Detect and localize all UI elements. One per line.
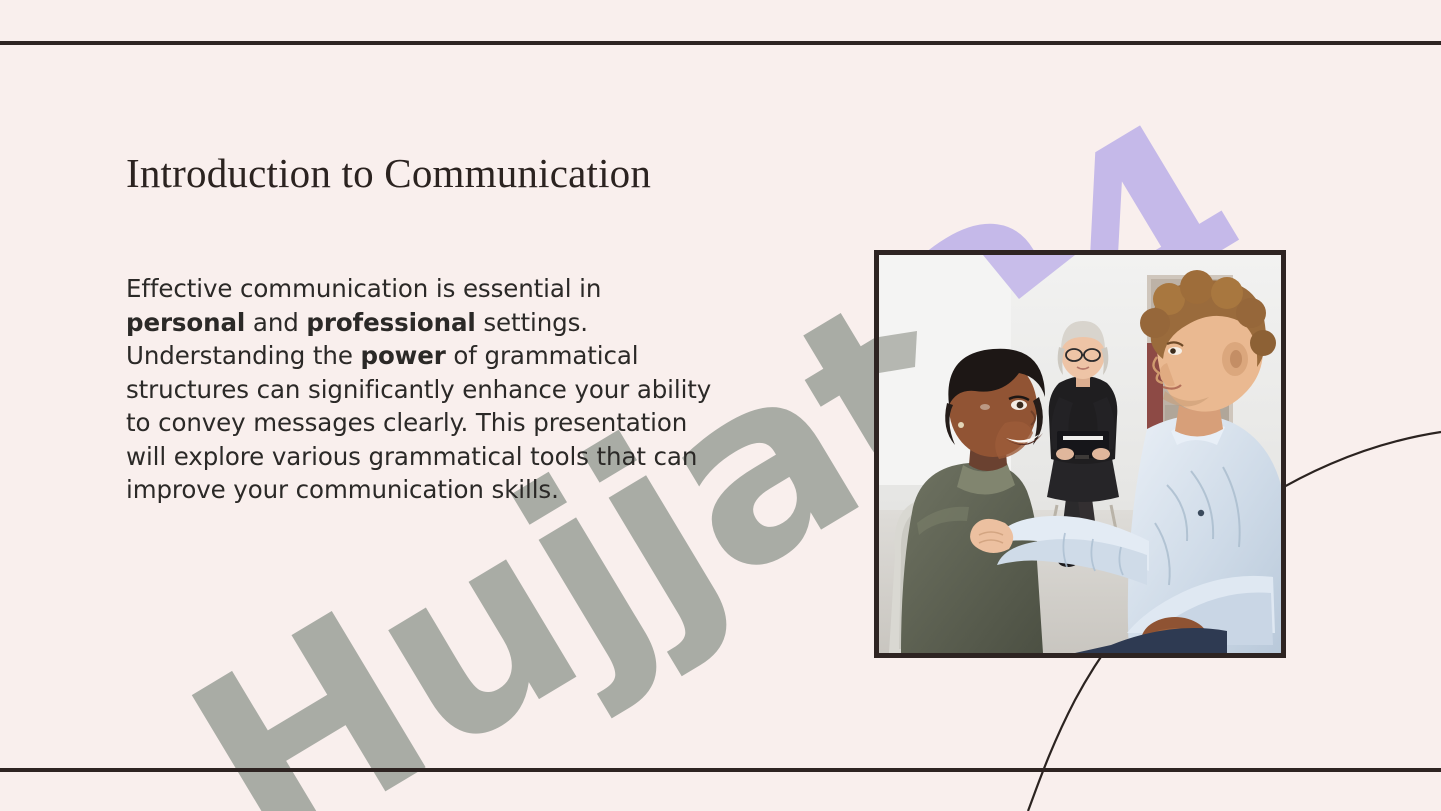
photo-illustration (879, 255, 1281, 653)
presentation-slide: Hujjat24 Introduction to Communication E… (0, 0, 1441, 811)
body-text: Effective communication is essential in (126, 274, 601, 303)
page-title: Introduction to Communication (126, 149, 651, 197)
body-paragraph: Effective communication is essential in … (126, 272, 726, 507)
body-emphasis: power (361, 341, 446, 370)
bottom-divider-rule (0, 768, 1441, 772)
body-emphasis: personal (126, 308, 245, 337)
top-divider-rule (0, 41, 1441, 45)
body-text: and (245, 308, 306, 337)
counseling-session-photo (874, 250, 1286, 658)
body-emphasis: professional (306, 308, 475, 337)
